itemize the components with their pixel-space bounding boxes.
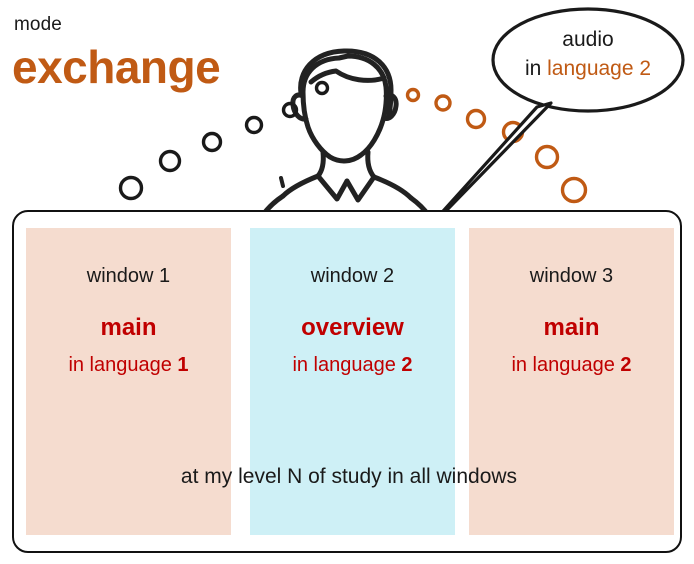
speech-bubble-line-1: audio [500, 25, 676, 54]
window-2-kind: overview [250, 314, 455, 342]
level-note: at my level N of study in all windows [14, 464, 684, 490]
thought-bubbles-left [121, 83, 328, 199]
window-2-language-prefix: in language [292, 354, 401, 376]
speech-bubble-line-2-highlight: language 2 [547, 57, 651, 80]
window-2-language: in language 2 [250, 353, 455, 377]
diagram-canvas: mode exchange [0, 0, 694, 564]
speech-bubble-line-2: in language 2 [500, 54, 676, 83]
window-1-language-prefix: in language [68, 354, 177, 376]
window-3-language-prefix: in language [511, 354, 620, 376]
window-1-language-number: 1 [177, 354, 188, 376]
speech-bubble-line-2-prefix: in [525, 57, 547, 80]
window-3-language-number: 2 [620, 354, 631, 376]
window-3-title: window 3 [469, 264, 674, 288]
mode-value: exchange [12, 40, 220, 94]
thought-bubbles-right [408, 90, 586, 202]
window-1-language: in language 1 [26, 353, 231, 377]
windows-panel: window 1 main in language 1 window 2 ove… [12, 210, 682, 553]
window-3-kind: main [469, 314, 674, 342]
mode-label: mode [14, 14, 62, 36]
window-2-language-number: 2 [401, 354, 412, 376]
window-2-title: window 2 [250, 264, 455, 288]
window-1-title: window 1 [26, 264, 231, 288]
window-3-language: in language 2 [469, 353, 674, 377]
window-1-kind: main [26, 314, 231, 342]
speech-bubble-text: audio in language 2 [500, 25, 676, 83]
